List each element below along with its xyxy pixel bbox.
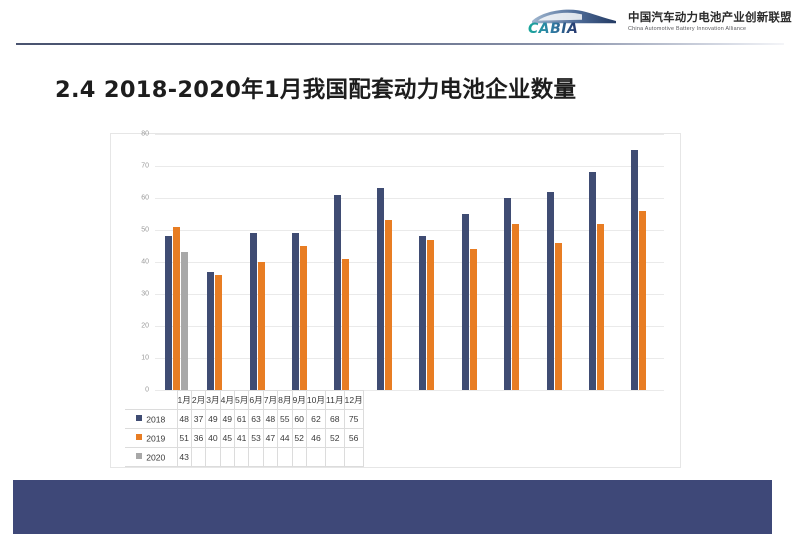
cell-2018-12月: 75 bbox=[344, 410, 363, 429]
bar-group-12月 bbox=[622, 134, 664, 390]
cell-2019-1月: 51 bbox=[177, 429, 191, 448]
cell-2018-3月: 49 bbox=[206, 410, 220, 429]
chart-container: 01020304050607080 1月2月3月4月5月6月7月8月9月10月1… bbox=[110, 133, 681, 468]
bar-2019-10月 bbox=[555, 243, 562, 390]
cell-2020-5月 bbox=[235, 448, 249, 467]
bar-group-7月 bbox=[410, 134, 452, 390]
bar-group-8月 bbox=[452, 134, 494, 390]
column-header-2月: 2月 bbox=[191, 391, 205, 410]
column-header-11月: 11月 bbox=[326, 391, 345, 410]
bar-2018-4月 bbox=[292, 233, 299, 390]
table-row-2020: 202043 bbox=[125, 448, 363, 467]
org-name-cn: 中国汽车动力电池产业创新联盟 bbox=[628, 12, 792, 25]
bar-2018-2月 bbox=[207, 272, 214, 390]
column-header-4月: 4月 bbox=[220, 391, 234, 410]
bar-2018-7月 bbox=[419, 236, 426, 390]
bars-layer bbox=[155, 134, 664, 390]
chart-data-table: 1月2月3月4月5月6月7月8月9月10月11月12月 201848374949… bbox=[125, 390, 364, 467]
bar-2018-6月 bbox=[377, 188, 384, 390]
column-header-3月: 3月 bbox=[206, 391, 220, 410]
y-axis-tick-80: 80 bbox=[141, 131, 149, 138]
bar-2018-10月 bbox=[547, 192, 554, 390]
cell-2018-10月: 62 bbox=[306, 410, 325, 429]
legend-swatch-2019 bbox=[136, 434, 142, 440]
cell-2019-3月: 40 bbox=[206, 429, 220, 448]
chart-plot-area: 01020304050607080 bbox=[111, 134, 680, 390]
column-header-12月: 12月 bbox=[344, 391, 363, 410]
org-name-en: China Automotive Battery Innovation Alli… bbox=[628, 25, 792, 33]
bar-2018-12月 bbox=[631, 150, 638, 390]
bar-group-3月 bbox=[240, 134, 282, 390]
cell-2019-11月: 52 bbox=[326, 429, 345, 448]
y-axis-tick-50: 50 bbox=[141, 227, 149, 234]
bar-2019-9月 bbox=[512, 224, 519, 390]
legend-label-2018: 2018 bbox=[146, 414, 165, 424]
legend-entry-2018: 2018 bbox=[125, 410, 177, 429]
cell-2020-6月 bbox=[249, 448, 263, 467]
cell-2020-12月 bbox=[344, 448, 363, 467]
cell-2019-7月: 47 bbox=[263, 429, 277, 448]
bar-2019-2月 bbox=[215, 275, 222, 390]
y-axis-tick-30: 30 bbox=[141, 291, 149, 298]
table-row-2018: 2018483749496163485560626875 bbox=[125, 410, 363, 429]
table-header-row: 1月2月3月4月5月6月7月8月9月10月11月12月 bbox=[125, 391, 363, 410]
cell-2019-12月: 56 bbox=[344, 429, 363, 448]
y-axis-tick-40: 40 bbox=[141, 259, 149, 266]
bar-2019-5月 bbox=[342, 259, 349, 390]
bar-2018-1月 bbox=[165, 236, 172, 390]
bar-group-10月 bbox=[537, 134, 579, 390]
bar-2019-6月 bbox=[385, 220, 392, 390]
cell-2020-2月 bbox=[191, 448, 205, 467]
legend-swatch-2020 bbox=[136, 453, 142, 459]
cell-2018-5月: 61 bbox=[235, 410, 249, 429]
cell-2018-9月: 60 bbox=[292, 410, 306, 429]
cell-2019-5月: 41 bbox=[235, 429, 249, 448]
cell-2018-2月: 37 bbox=[191, 410, 205, 429]
bar-group-1月 bbox=[155, 134, 197, 390]
cell-2019-4月: 45 bbox=[220, 429, 234, 448]
legend-entry-2019: 2019 bbox=[125, 429, 177, 448]
cell-2019-9月: 52 bbox=[292, 429, 306, 448]
footer-bar bbox=[13, 480, 772, 534]
y-axis: 01020304050607080 bbox=[111, 134, 155, 390]
brand-text: 中国汽车动力电池产业创新联盟 China Automotive Battery … bbox=[628, 12, 792, 33]
bar-2019-1月 bbox=[173, 227, 180, 390]
bar-group-11月 bbox=[579, 134, 621, 390]
bar-2019-3月 bbox=[258, 262, 265, 390]
column-header-5月: 5月 bbox=[235, 391, 249, 410]
page-title: 2.4 2018-2020年1月我国配套动力电池企业数量 bbox=[55, 72, 576, 104]
cell-2018-11月: 68 bbox=[326, 410, 345, 429]
column-header-10月: 10月 bbox=[306, 391, 325, 410]
bar-2019-8月 bbox=[470, 249, 477, 390]
cell-2018-4月: 49 bbox=[220, 410, 234, 429]
bar-2018-11月 bbox=[589, 172, 596, 390]
bar-group-5月 bbox=[325, 134, 367, 390]
cell-2019-10月: 46 bbox=[306, 429, 325, 448]
bar-group-4月 bbox=[282, 134, 324, 390]
bar-2020-1月 bbox=[181, 252, 188, 390]
legend-label-2020: 2020 bbox=[146, 452, 165, 462]
bar-2018-3月 bbox=[250, 233, 257, 390]
cell-2020-9月 bbox=[292, 448, 306, 467]
y-axis-tick-10: 10 bbox=[141, 355, 149, 362]
cell-2020-11月 bbox=[326, 448, 345, 467]
bar-2019-12月 bbox=[639, 211, 646, 390]
column-header-7月: 7月 bbox=[263, 391, 277, 410]
bar-group-6月 bbox=[367, 134, 409, 390]
svg-text:CABIA: CABIA bbox=[528, 21, 578, 36]
column-header-6月: 6月 bbox=[249, 391, 263, 410]
bar-2018-5月 bbox=[334, 195, 341, 390]
cell-2018-1月: 48 bbox=[177, 410, 191, 429]
cell-2020-3月 bbox=[206, 448, 220, 467]
legend-swatch-2018 bbox=[136, 415, 142, 421]
chart-gridlines-and-bars bbox=[155, 134, 664, 390]
bar-2018-8月 bbox=[462, 214, 469, 390]
cell-2019-6月: 53 bbox=[249, 429, 263, 448]
legend-label-2019: 2019 bbox=[146, 433, 165, 443]
cell-2019-8月: 44 bbox=[278, 429, 292, 448]
cell-2020-8月 bbox=[278, 448, 292, 467]
column-header-8月: 8月 bbox=[278, 391, 292, 410]
header-divider bbox=[16, 43, 784, 45]
y-axis-tick-70: 70 bbox=[141, 163, 149, 170]
table-row-2019: 2019513640454153474452465256 bbox=[125, 429, 363, 448]
brand-logo-block: CABIA 中国汽车动力电池产业创新联盟 China Automotive Ba… bbox=[524, 8, 792, 36]
cell-2020-7月 bbox=[263, 448, 277, 467]
column-header-9月: 9月 bbox=[292, 391, 306, 410]
cell-2020-10月 bbox=[306, 448, 325, 467]
bar-2018-9月 bbox=[504, 198, 511, 390]
cell-2020-4月 bbox=[220, 448, 234, 467]
bar-2019-11月 bbox=[597, 224, 604, 390]
y-axis-tick-20: 20 bbox=[141, 323, 149, 330]
cell-2019-2月: 36 bbox=[191, 429, 205, 448]
table-body: 2018483749496163485560626875201951364045… bbox=[125, 410, 363, 467]
column-header-1月: 1月 bbox=[177, 391, 191, 410]
bar-group-2月 bbox=[197, 134, 239, 390]
bar-2019-7月 bbox=[427, 240, 434, 390]
cabia-logo-icon: CABIA bbox=[524, 8, 620, 36]
bar-group-9月 bbox=[494, 134, 536, 390]
legend-entry-2020: 2020 bbox=[125, 448, 177, 467]
cell-2018-6月: 63 bbox=[249, 410, 263, 429]
table-corner-cell bbox=[125, 391, 177, 410]
cell-2018-8月: 55 bbox=[278, 410, 292, 429]
y-axis-tick-60: 60 bbox=[141, 195, 149, 202]
bar-2019-4月 bbox=[300, 246, 307, 390]
cell-2020-1月: 43 bbox=[177, 448, 191, 467]
slide-canvas: CABIA 中国汽车动力电池产业创新联盟 China Automotive Ba… bbox=[0, 0, 800, 554]
cell-2018-7月: 48 bbox=[263, 410, 277, 429]
